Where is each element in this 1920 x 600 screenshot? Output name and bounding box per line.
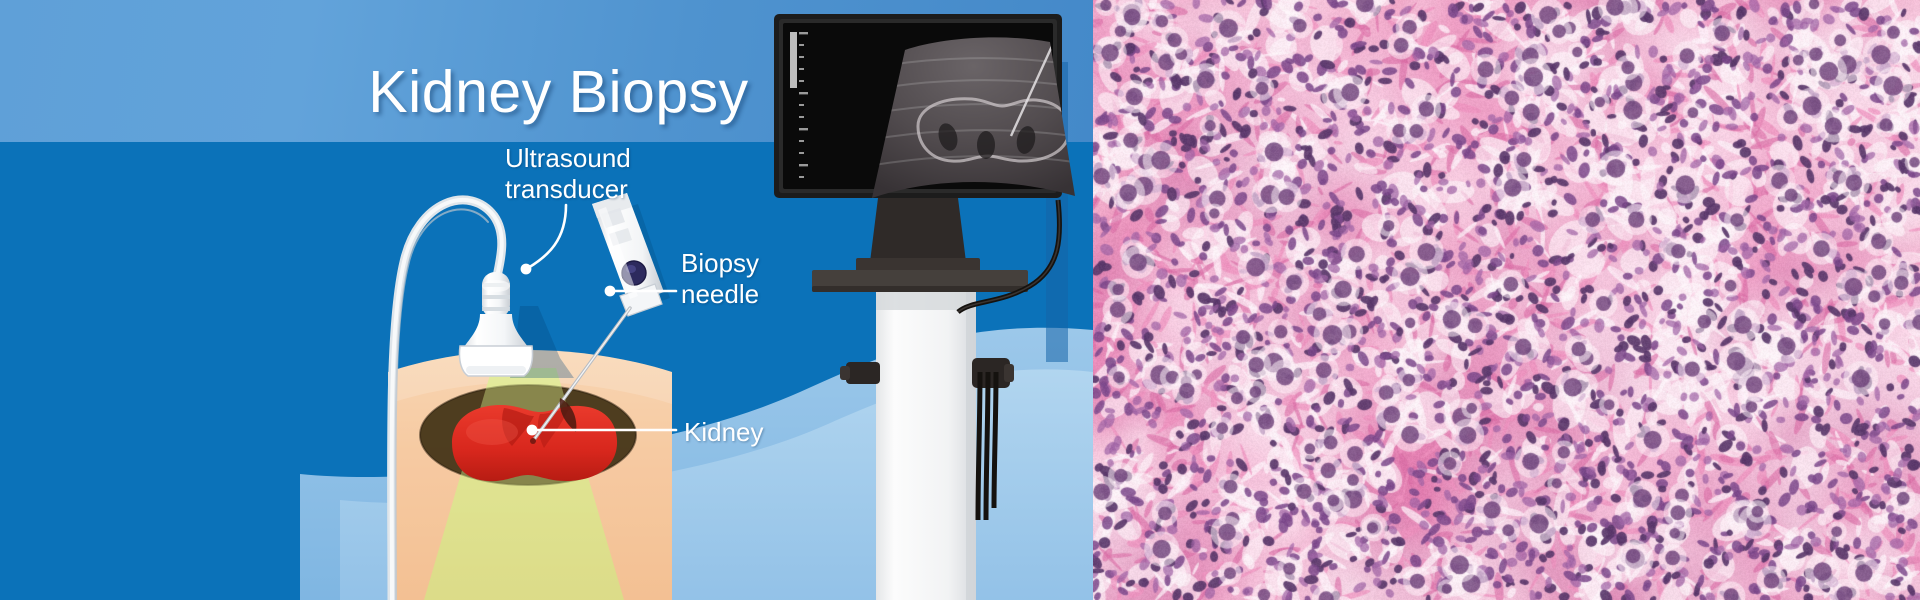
histology-micrograph [1093,0,1920,600]
label-kidney-line1: Kidney [684,417,764,448]
monitor-neck [870,198,966,262]
label-biopsy-needle-line2: needle [681,279,755,310]
illustration-artwork [0,0,1093,600]
histology-panel [1093,0,1920,600]
anchor-dot-kidney [527,425,538,436]
label-ultrasound-transducer: Ultrasound transducer [505,143,625,205]
anchor-dot-needle [605,286,616,297]
anchor-dot-transducer [521,264,532,275]
label-biopsy-needle-line1: Biopsy [681,248,755,279]
kidney-biopsy-infographic: Kidney Biopsy [0,0,1920,600]
cart-column [876,292,976,600]
label-ultrasound-transducer-line1: Ultrasound [505,143,625,174]
biopsy-needle-device [592,193,670,316]
label-biopsy-needle: Biopsy needle [681,248,755,310]
label-ultrasound-transducer-line2: transducer [505,174,625,205]
label-kidney: Kidney [684,417,764,448]
illustration-panel: Kidney Biopsy [0,0,1093,600]
ultrasound-transducer [459,272,574,378]
